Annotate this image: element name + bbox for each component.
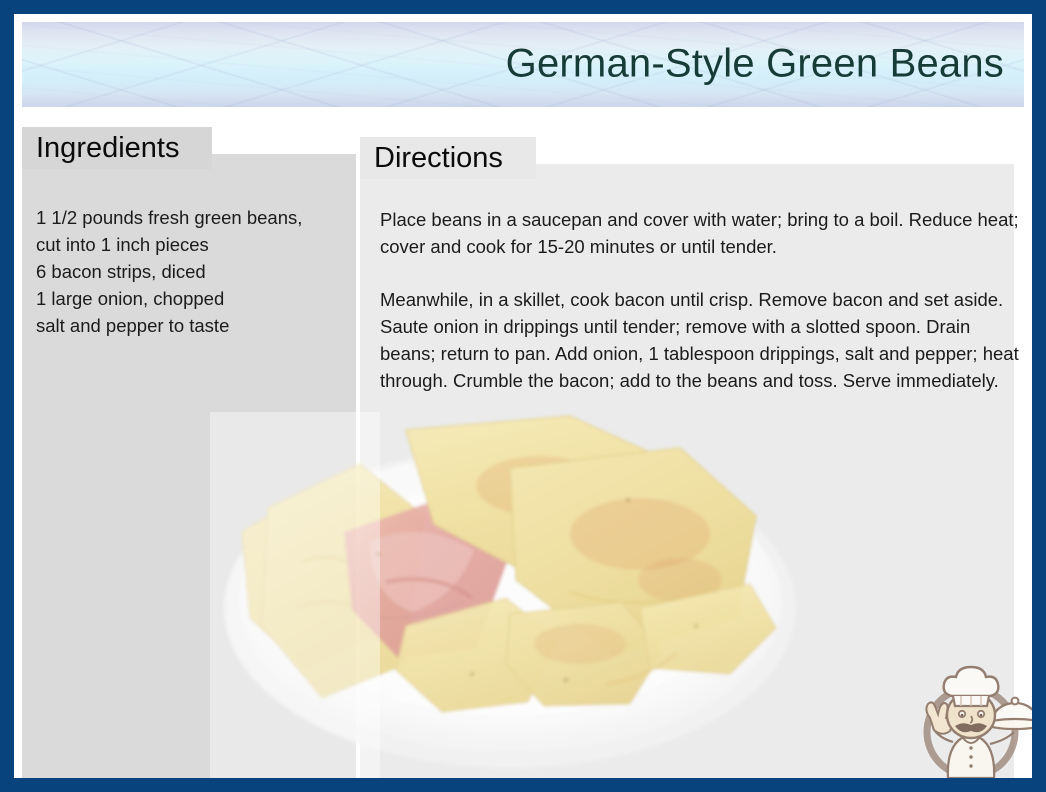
directions-heading-tab: Directions <box>360 137 536 179</box>
ingredients-list: 1 1/2 pounds fresh green beans, cut into… <box>36 204 354 339</box>
ingredients-heading: Ingredients <box>36 134 180 163</box>
directions-paragraph-2: Meanwhile, in a skillet, cook bacon unti… <box>380 286 1020 394</box>
recipe-card: German-Style Green Beans Ingredients 1 1… <box>0 0 1046 792</box>
card-inner-matte: German-Style Green Beans Ingredients 1 1… <box>14 14 1032 778</box>
page-title: German-Style Green Beans <box>506 41 1004 86</box>
ingredients-heading-tab: Ingredients <box>22 127 212 169</box>
title-banner: German-Style Green Beans <box>22 22 1024 107</box>
chef-logo <box>908 660 1034 786</box>
directions-paragraph-1: Place beans in a saucepan and cover with… <box>380 206 1020 260</box>
directions-heading: Directions <box>374 144 503 173</box>
directions-body: Place beans in a saucepan and cover with… <box>380 206 1020 394</box>
